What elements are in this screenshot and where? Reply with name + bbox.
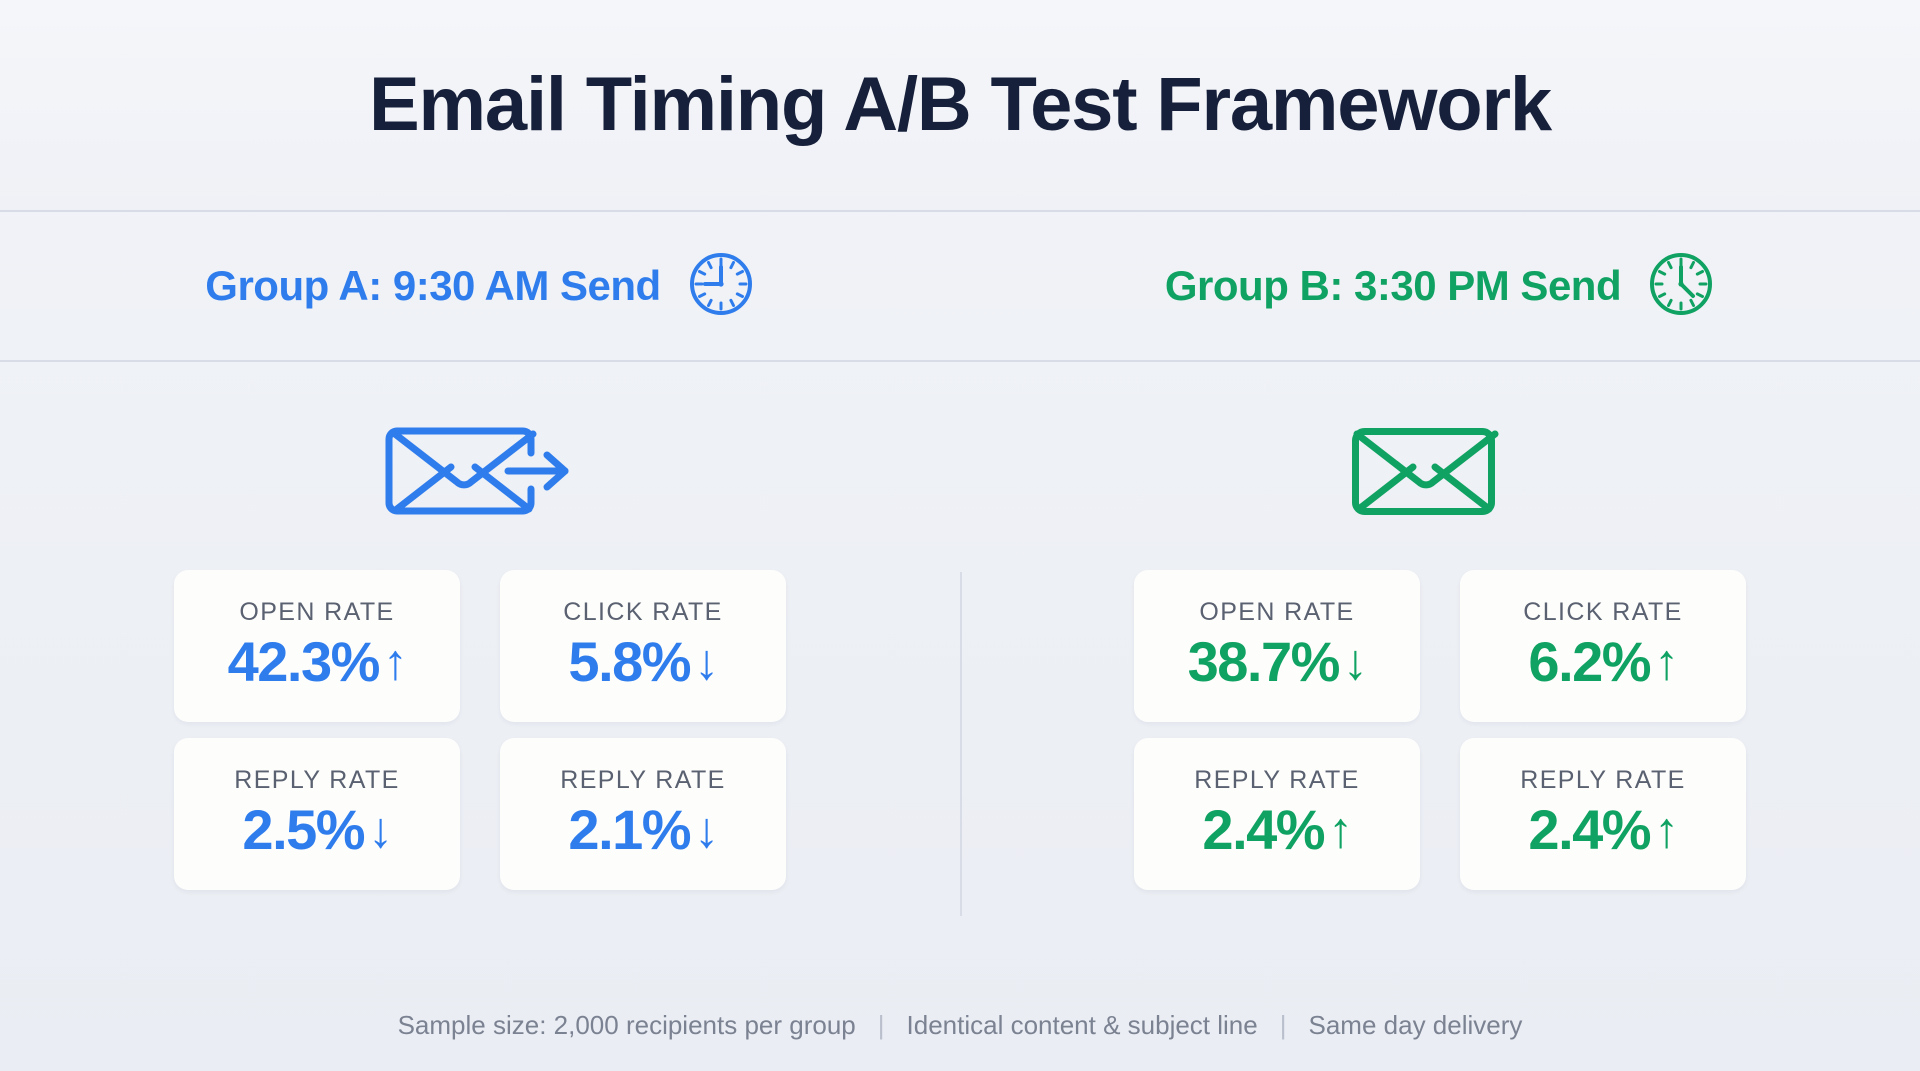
metric-value: 2.4%↑: [1528, 797, 1677, 862]
trend-arrow-icon: ↑: [1654, 637, 1678, 687]
metric-card[interactable]: CLICK RATE 5.8%↓: [500, 570, 786, 722]
clock-icon: [687, 250, 755, 323]
metric-card[interactable]: REPLY RATE 2.1%↓: [500, 738, 786, 890]
group-a-label: Group A: 9:30 AM Send: [205, 262, 660, 310]
metric-card[interactable]: REPLY RATE 2.4%↑: [1134, 738, 1420, 890]
metric-card[interactable]: OPEN RATE 42.3%↑: [174, 570, 460, 722]
column-group-b: OPEN RATE 38.7%↓ CLICK RATE 6.2%↑ REPLY …: [960, 362, 1920, 1000]
metric-label: CLICK RATE: [1523, 598, 1682, 627]
group-header-a: Group A: 9:30 AM Send: [0, 212, 960, 360]
metric-card[interactable]: OPEN RATE 38.7%↓: [1134, 570, 1420, 722]
trend-arrow-icon: ↓: [694, 805, 718, 855]
metric-label: REPLY RATE: [1194, 766, 1359, 795]
footer-separator: |: [878, 1010, 885, 1041]
trend-arrow-icon: ↓: [694, 637, 718, 687]
group-b-label: Group B: 3:30 PM Send: [1165, 262, 1621, 310]
metric-card[interactable]: REPLY RATE 2.5%↓: [174, 738, 460, 890]
column-group-a: OPEN RATE 42.3%↑ CLICK RATE 5.8%↓ REPLY …: [0, 362, 960, 1000]
metric-card[interactable]: REPLY RATE 2.4%↑: [1460, 738, 1746, 890]
trend-arrow-icon: ↓: [368, 805, 392, 855]
footer-separator: |: [1280, 1010, 1287, 1041]
metric-label: REPLY RATE: [234, 766, 399, 795]
trend-arrow-icon: ↑: [1654, 805, 1678, 855]
metric-label: OPEN RATE: [1199, 598, 1354, 627]
metric-value: 2.5%↓: [242, 797, 391, 862]
group-header-b: Group B: 3:30 PM Send: [960, 212, 1920, 360]
divider-vertical: [960, 572, 962, 916]
envelope-send-icon: [383, 396, 578, 546]
metric-value: 6.2%↑: [1528, 629, 1677, 694]
footer-notes: Sample size: 2,000 recipients per group …: [0, 1010, 1920, 1041]
metric-card[interactable]: CLICK RATE 6.2%↑: [1460, 570, 1746, 722]
metric-cards-group-b: OPEN RATE 38.7%↓ CLICK RATE 6.2%↑ REPLY …: [1134, 570, 1746, 890]
title-bar: Email Timing A/B Test Framework: [0, 0, 1920, 210]
trend-arrow-icon: ↑: [383, 637, 407, 687]
metric-label: REPLY RATE: [1520, 766, 1685, 795]
footer-note: Same day delivery: [1309, 1010, 1523, 1041]
group-columns: OPEN RATE 42.3%↑ CLICK RATE 5.8%↓ REPLY …: [0, 362, 1920, 1000]
metric-cards-group-a: OPEN RATE 42.3%↑ CLICK RATE 5.8%↓ REPLY …: [174, 570, 786, 890]
metric-value: 38.7%↓: [1188, 629, 1367, 694]
metric-label: CLICK RATE: [563, 598, 722, 627]
metric-label: OPEN RATE: [239, 598, 394, 627]
metric-value: 42.3%↑: [228, 629, 407, 694]
metric-value: 2.4%↑: [1202, 797, 1351, 862]
page-title: Email Timing A/B Test Framework: [369, 67, 1551, 143]
group-header-row: Group A: 9:30 AM Send: [0, 212, 1920, 360]
clock-icon: [1647, 250, 1715, 323]
footer-note: Identical content & subject line: [907, 1010, 1258, 1041]
metric-value: 2.1%↓: [568, 797, 717, 862]
metric-label: REPLY RATE: [560, 766, 725, 795]
trend-arrow-icon: ↓: [1343, 637, 1367, 687]
metric-value: 5.8%↓: [568, 629, 717, 694]
trend-arrow-icon: ↑: [1328, 805, 1352, 855]
footer-note: Sample size: 2,000 recipients per group: [398, 1010, 856, 1041]
envelope-icon: [1343, 396, 1538, 546]
